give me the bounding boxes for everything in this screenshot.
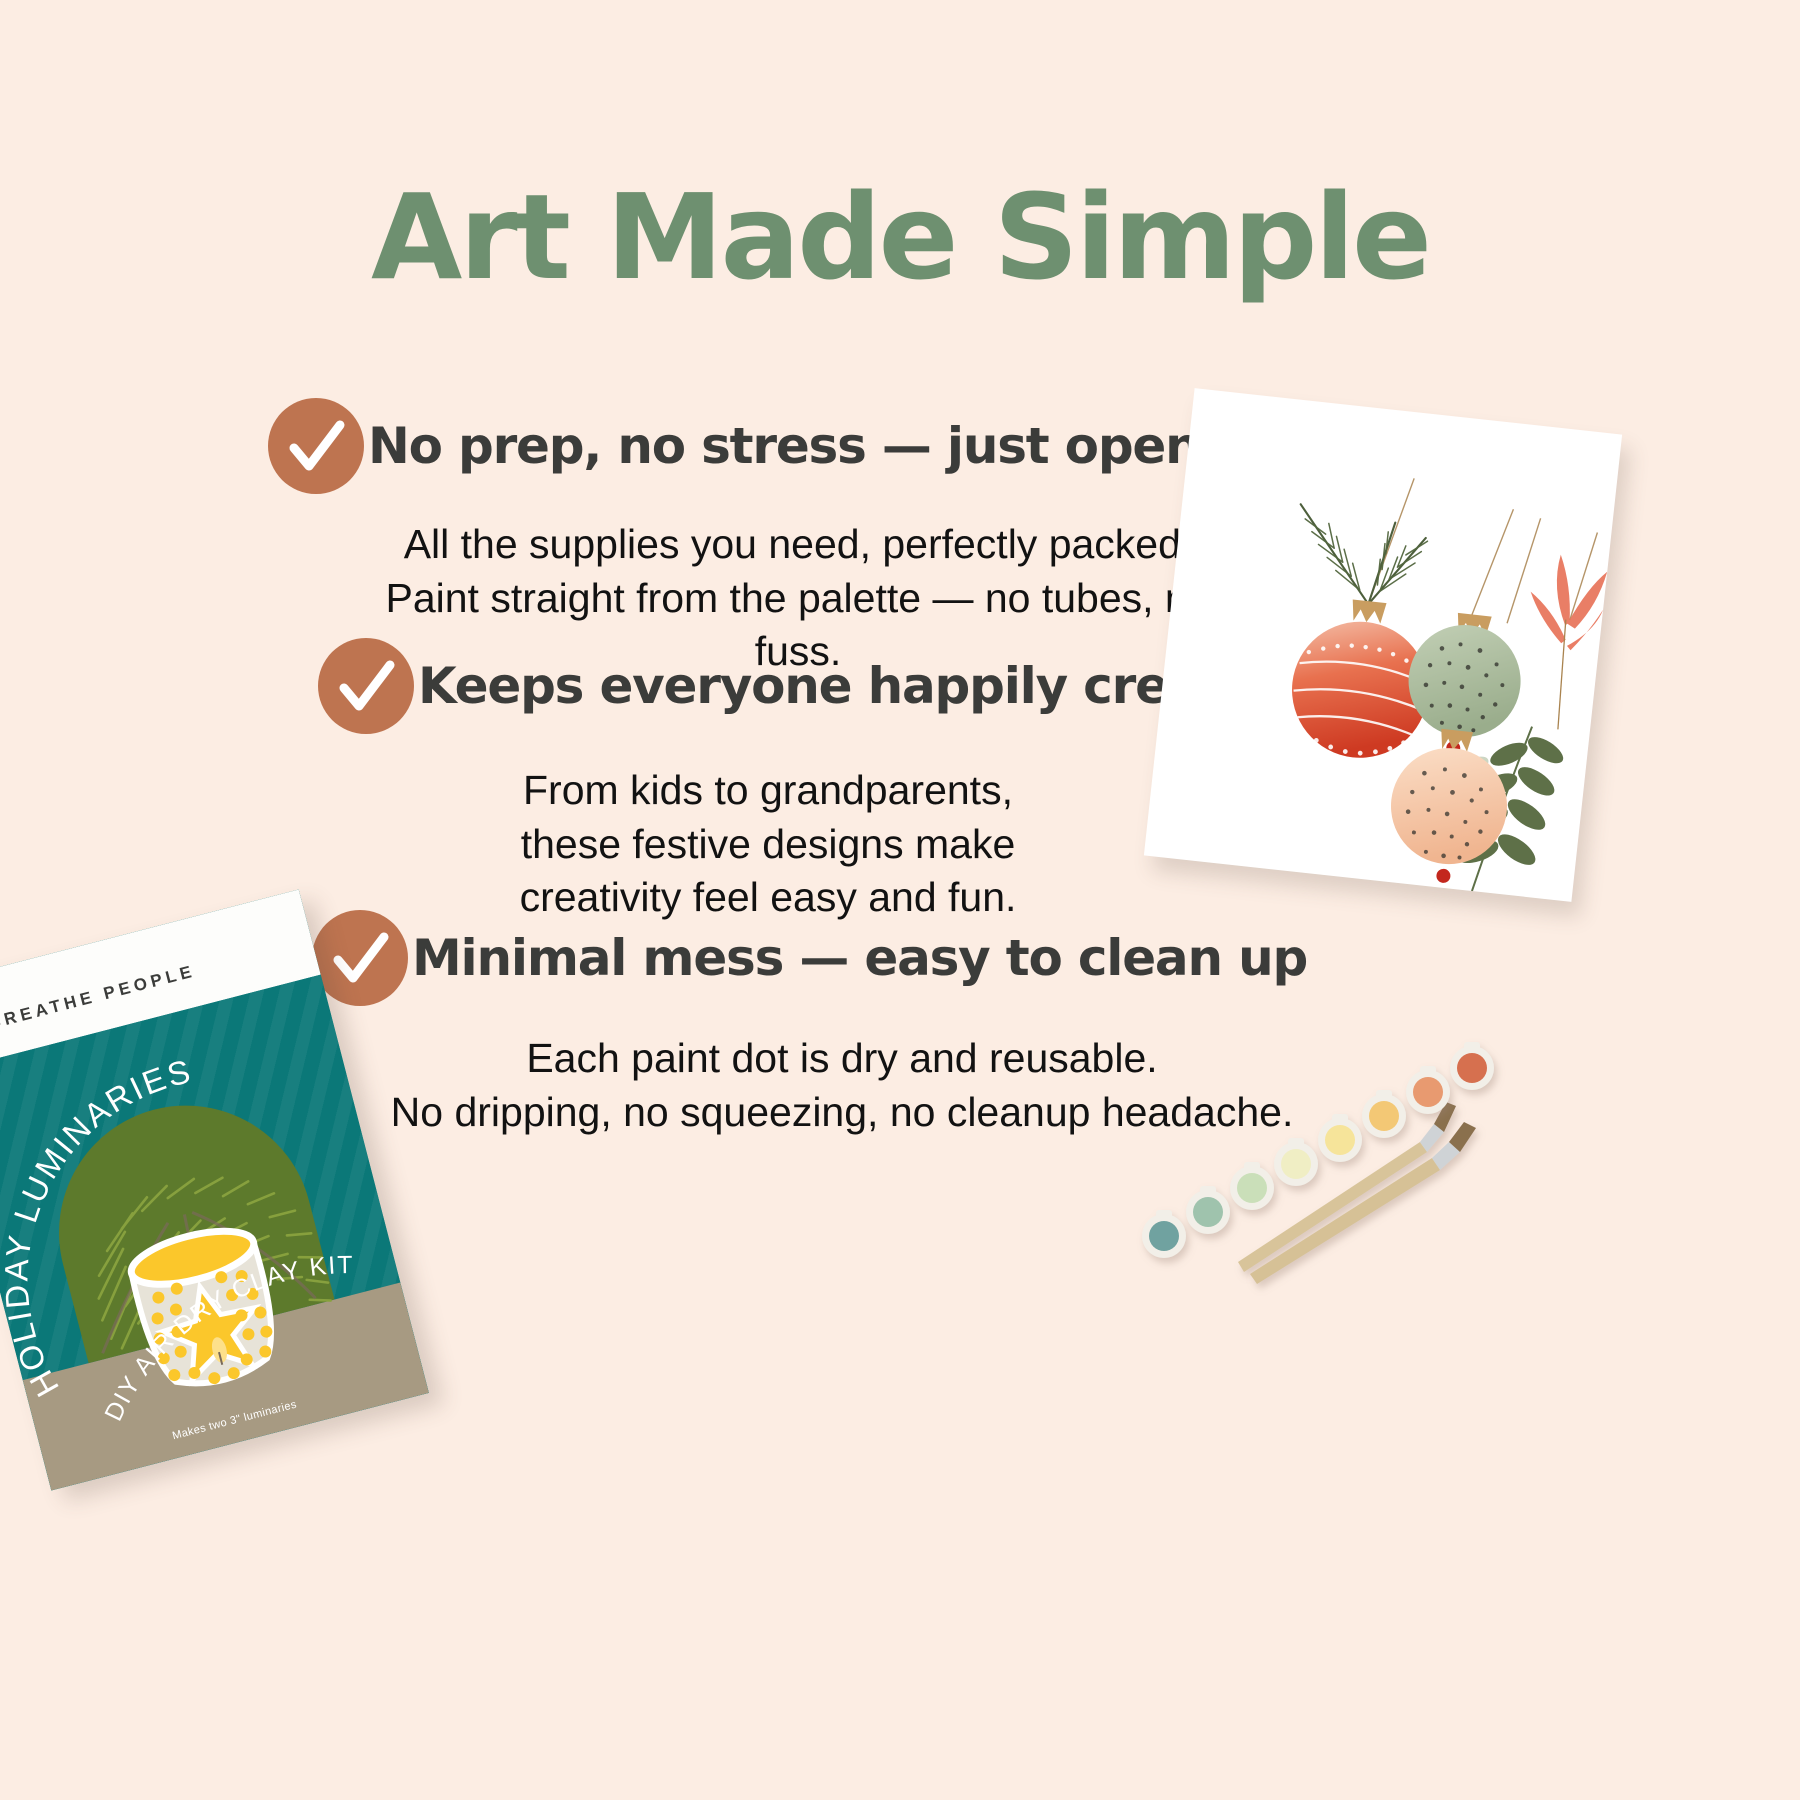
check-circle-icon xyxy=(268,398,364,494)
check-circle-icon xyxy=(318,638,414,734)
box-kit-type: DIY AIR DRY CLAY KIT xyxy=(73,1241,381,1430)
benefit-3-title: Minimal mess — easy to clean up xyxy=(412,929,1307,987)
svg-text:DIY AIR DRY CLAY KIT: DIY AIR DRY CLAY KIT xyxy=(73,1241,381,1430)
check-circle-icon xyxy=(312,910,408,1006)
poster-canvas: Art Made Simple No prep, no stress — jus… xyxy=(0,0,1800,1800)
watercolor-ornament-card xyxy=(1144,388,1622,902)
page-title: Art Made Simple xyxy=(0,178,1800,296)
paint-palette-and-brushes xyxy=(1120,1010,1540,1310)
benefit-2-body: From kids to grandparents, these festive… xyxy=(488,764,1048,925)
benefit-3-header: Minimal mess — easy to clean up xyxy=(312,910,1322,1006)
